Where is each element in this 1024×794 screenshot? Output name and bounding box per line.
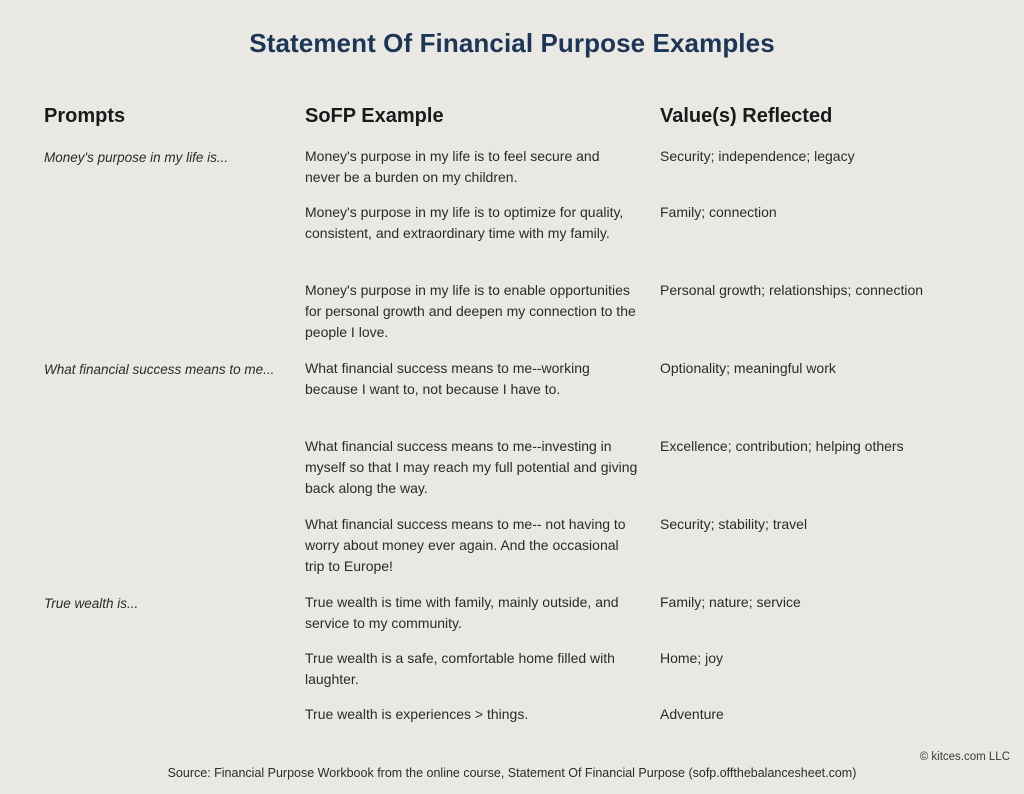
table-row: What financial success means to me--inve… bbox=[0, 436, 1024, 514]
cell-example: Money's purpose in my life is to enable … bbox=[305, 280, 660, 343]
example-text: Money's purpose in my life is to feel se… bbox=[305, 146, 638, 188]
prompt-text: What financial success means to me... bbox=[44, 358, 295, 380]
value-text: Security; stability; travel bbox=[660, 514, 966, 535]
value-text: Excellence; contribution; helping others bbox=[660, 436, 966, 457]
header-label-example: SoFP Example bbox=[305, 104, 638, 128]
cell-value: Security; independence; legacy bbox=[660, 146, 980, 167]
header-cell-prompts: Prompts bbox=[0, 104, 305, 128]
table-row: Money's purpose in my life is to enable … bbox=[0, 280, 1024, 358]
table-row: True wealth is a safe, comfortable home … bbox=[0, 648, 1024, 704]
example-text: What financial success means to me-- not… bbox=[305, 514, 638, 577]
example-text: True wealth is time with family, mainly … bbox=[305, 592, 638, 634]
sofp-examples-table: Prompts SoFP Example Value(s) Reflected … bbox=[0, 104, 1024, 760]
cell-value: Family; nature; service bbox=[660, 592, 980, 613]
example-text: True wealth is a safe, comfortable home … bbox=[305, 648, 638, 690]
prompt-text: Money's purpose in my life is... bbox=[44, 146, 295, 168]
header-label-values: Value(s) Reflected bbox=[660, 104, 966, 128]
cell-value: Security; stability; travel bbox=[660, 514, 980, 535]
table-row: Money's purpose in my life is... Money's… bbox=[0, 146, 1024, 202]
cell-example: What financial success means to me--inve… bbox=[305, 436, 660, 499]
prompt-text: True wealth is... bbox=[44, 592, 295, 614]
cell-value: Personal growth; relationships; connecti… bbox=[660, 280, 980, 301]
cell-example: Money's purpose in my life is to optimiz… bbox=[305, 202, 660, 244]
value-text: Optionality; meaningful work bbox=[660, 358, 966, 379]
prompt-group: What financial success means to me... Wh… bbox=[0, 358, 1024, 592]
table-row: What financial success means to me-- not… bbox=[0, 514, 1024, 592]
example-text: Money's purpose in my life is to enable … bbox=[305, 280, 638, 343]
prompt-group: True wealth is... True wealth is time wi… bbox=[0, 592, 1024, 760]
value-text: Security; independence; legacy bbox=[660, 146, 966, 167]
slide-canvas: Statement Of Financial Purpose Examples … bbox=[0, 0, 1024, 794]
cell-prompt: Money's purpose in my life is... bbox=[0, 146, 305, 168]
table-header-row: Prompts SoFP Example Value(s) Reflected bbox=[0, 104, 1024, 128]
cell-example: True wealth is time with family, mainly … bbox=[305, 592, 660, 634]
cell-example: True wealth is experiences > things. bbox=[305, 704, 660, 725]
table-row: True wealth is... True wealth is time wi… bbox=[0, 592, 1024, 648]
page-title: Statement Of Financial Purpose Examples bbox=[0, 28, 1024, 59]
value-text: Family; nature; service bbox=[660, 592, 966, 613]
prompt-group: Money's purpose in my life is... Money's… bbox=[0, 146, 1024, 358]
value-text: Home; joy bbox=[660, 648, 966, 669]
value-text: Personal growth; relationships; connecti… bbox=[660, 280, 966, 301]
cell-example: What financial success means to me-- not… bbox=[305, 514, 660, 577]
example-text: Money's purpose in my life is to optimiz… bbox=[305, 202, 638, 244]
cell-example: True wealth is a safe, comfortable home … bbox=[305, 648, 660, 690]
value-text: Family; connection bbox=[660, 202, 966, 223]
cell-prompt: What financial success means to me... bbox=[0, 358, 305, 380]
source-text: Source: Financial Purpose Workbook from … bbox=[0, 766, 1024, 780]
cell-value: Adventure bbox=[660, 704, 980, 725]
example-text: What financial success means to me--work… bbox=[305, 358, 638, 400]
value-text: Adventure bbox=[660, 704, 966, 725]
cell-value: Home; joy bbox=[660, 648, 980, 669]
cell-example: Money's purpose in my life is to feel se… bbox=[305, 146, 660, 188]
cell-value: Excellence; contribution; helping others bbox=[660, 436, 980, 457]
cell-value: Optionality; meaningful work bbox=[660, 358, 980, 379]
copyright-text: © kitces.com LLC bbox=[0, 751, 1024, 763]
footer: © kitces.com LLC Source: Financial Purpo… bbox=[0, 751, 1024, 780]
cell-prompt: True wealth is... bbox=[0, 592, 305, 614]
table-row: What financial success means to me... Wh… bbox=[0, 358, 1024, 436]
example-text: True wealth is experiences > things. bbox=[305, 704, 638, 725]
example-text: What financial success means to me--inve… bbox=[305, 436, 638, 499]
cell-example: What financial success means to me--work… bbox=[305, 358, 660, 400]
table-row: Money's purpose in my life is to optimiz… bbox=[0, 202, 1024, 280]
header-cell-example: SoFP Example bbox=[305, 104, 660, 128]
cell-value: Family; connection bbox=[660, 202, 980, 223]
header-cell-values: Value(s) Reflected bbox=[660, 104, 980, 128]
header-label-prompts: Prompts bbox=[44, 104, 295, 128]
